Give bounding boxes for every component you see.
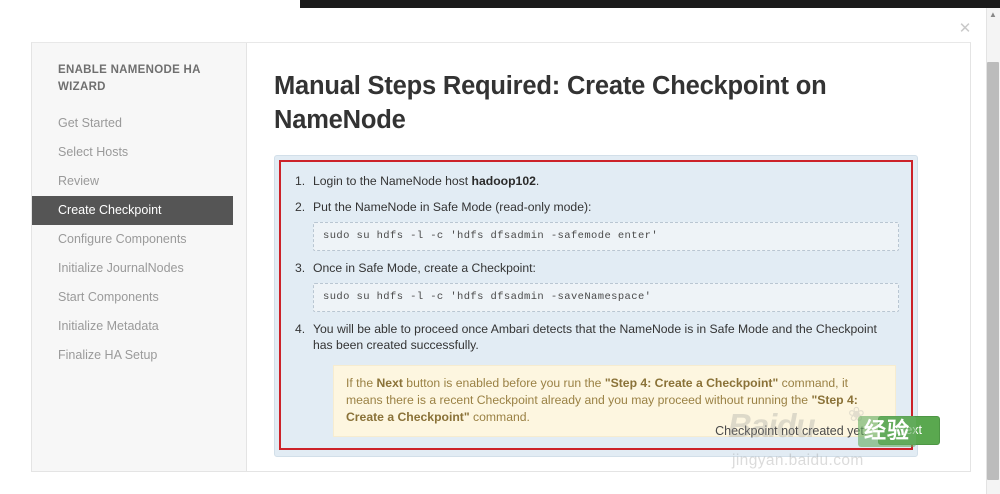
sidebar-item-configure-components[interactable]: Configure Components bbox=[32, 225, 246, 254]
vertical-scrollbar-thumb[interactable] bbox=[987, 62, 999, 480]
alert-part-1: If the bbox=[346, 376, 377, 390]
alert-part-4: command. bbox=[470, 410, 530, 424]
step-text-1: Login to the NameNode host hadoop102. bbox=[313, 174, 539, 188]
alert-bold-next: Next bbox=[377, 376, 403, 390]
code-block-safemode-enter[interactable]: sudo su hdfs -l -c 'hdfs dfsadmin -safem… bbox=[313, 222, 899, 251]
modal-body: ENABLE NAMENODE HA WIZARD Get Started Se… bbox=[31, 42, 971, 472]
scrollbar-up-arrow-icon[interactable]: ▲ bbox=[988, 10, 998, 20]
step-text-3: Once in Safe Mode, create a Checkpoint: bbox=[313, 261, 536, 275]
sidebar-item-get-started[interactable]: Get Started bbox=[32, 109, 246, 138]
step-item-2: Put the NameNode in Safe Mode (read-only… bbox=[289, 199, 899, 251]
modal-footer: Checkpoint not created yet. Next bbox=[715, 416, 940, 445]
sidebar-item-create-checkpoint[interactable]: Create Checkpoint bbox=[32, 196, 233, 225]
page-title: Manual Steps Required: Create Checkpoint… bbox=[274, 69, 854, 137]
close-icon[interactable]: ✕ bbox=[956, 20, 974, 38]
sidebar-item-select-hosts[interactable]: Select Hosts bbox=[32, 138, 246, 167]
sidebar-item-finalize-ha-setup[interactable]: Finalize HA Setup bbox=[32, 341, 246, 370]
wizard-sidebar: ENABLE NAMENODE HA WIZARD Get Started Se… bbox=[32, 43, 247, 471]
next-button[interactable]: Next bbox=[878, 416, 940, 445]
alert-bold-step4-first: "Step 4: Create a Checkpoint" bbox=[605, 376, 778, 390]
step-item-3: Once in Safe Mode, create a Checkpoint: … bbox=[289, 260, 899, 312]
main-content: Manual Steps Required: Create Checkpoint… bbox=[247, 43, 970, 471]
step-text-4: You will be able to proceed once Ambari … bbox=[313, 322, 877, 353]
alert-part-2: button is enabled before you run the bbox=[403, 376, 605, 390]
sidebar-title: ENABLE NAMENODE HA WIZARD bbox=[32, 62, 246, 96]
sidebar-item-initialize-metadata[interactable]: Initialize Metadata bbox=[32, 312, 246, 341]
manual-steps-list: Login to the NameNode host hadoop102. Pu… bbox=[289, 173, 899, 437]
step-1-text-before: Login to the NameNode host bbox=[313, 174, 472, 188]
checkpoint-status-text: Checkpoint not created yet. bbox=[715, 424, 867, 438]
ha-wizard-modal: ✕ ENABLE NAMENODE HA WIZARD Get Started … bbox=[0, 8, 986, 494]
step-item-1: Login to the NameNode host hadoop102. bbox=[289, 173, 899, 190]
browser-top-strip bbox=[300, 0, 1000, 8]
instruction-panel: Login to the NameNode host hadoop102. Pu… bbox=[274, 155, 918, 457]
screenshot-root: ✕ ENABLE NAMENODE HA WIZARD Get Started … bbox=[0, 0, 1000, 494]
sidebar-item-initialize-journalnodes[interactable]: Initialize JournalNodes bbox=[32, 254, 246, 283]
instruction-panel-inner: Login to the NameNode host hadoop102. Pu… bbox=[279, 160, 913, 450]
sidebar-item-start-components[interactable]: Start Components bbox=[32, 283, 246, 312]
sidebar-item-review[interactable]: Review bbox=[32, 167, 246, 196]
step-1-host: hadoop102 bbox=[472, 174, 536, 188]
code-block-savenamespace[interactable]: sudo su hdfs -l -c 'hdfs dfsadmin -saveN… bbox=[313, 283, 899, 312]
step-1-text-after: . bbox=[536, 174, 539, 188]
step-text-2: Put the NameNode in Safe Mode (read-only… bbox=[313, 200, 591, 214]
